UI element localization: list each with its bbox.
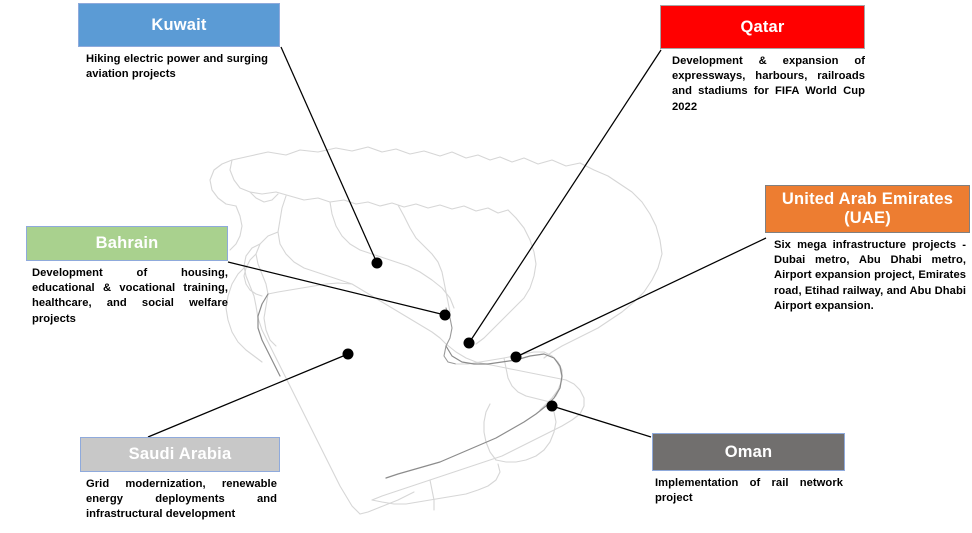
callout-qatar[interactable]: Qatar Development & expansion of express… <box>660 5 865 115</box>
callout-oman[interactable]: Oman Implementation of rail network proj… <box>652 433 845 506</box>
callout-header-uae: United Arab Emirates (UAE) <box>765 185 970 233</box>
callout-text-uae: Six mega infrastructure projects - Dubai… <box>774 233 966 314</box>
callout-header-saudi-arabia: Saudi Arabia <box>80 437 280 472</box>
map-coastline-emphasis <box>258 294 562 478</box>
leader-line-oman <box>552 406 651 437</box>
callout-saudi-arabia[interactable]: Saudi Arabia Grid modernization, renewab… <box>80 437 280 523</box>
callout-text-oman: Implementation of rail network project <box>655 471 843 506</box>
leader-line-uae <box>516 238 766 357</box>
callout-kuwait[interactable]: Kuwait Hiking electric power and surging… <box>78 3 280 82</box>
callout-text-kuwait: Hiking electric power and surging aviati… <box>86 47 268 82</box>
callout-text-saudi-arabia: Grid modernization, renewable energy dep… <box>86 472 277 523</box>
map-marker-bahrain[interactable] <box>440 310 451 321</box>
map-marker-saudi[interactable] <box>343 349 354 360</box>
callout-bahrain[interactable]: Bahrain Development of housing, educatio… <box>26 226 228 327</box>
map-marker-kuwait[interactable] <box>372 258 383 269</box>
callout-header-qatar: Qatar <box>660 5 865 49</box>
infographic-canvas: Kuwait Hiking electric power and surging… <box>0 0 972 533</box>
callout-text-qatar: Development & expansion of expressways, … <box>672 49 865 115</box>
map-marker-uae[interactable] <box>511 352 522 363</box>
callout-uae[interactable]: United Arab Emirates (UAE) Six mega infr… <box>765 185 970 314</box>
map-marker-oman[interactable] <box>547 401 558 412</box>
callout-header-oman: Oman <box>652 433 845 471</box>
leader-line-kuwait <box>281 47 377 263</box>
leader-line-saudi <box>148 354 348 437</box>
callout-header-bahrain: Bahrain <box>26 226 228 261</box>
callout-header-kuwait: Kuwait <box>78 3 280 47</box>
map-marker-qatar[interactable] <box>464 338 475 349</box>
leader-line-qatar <box>469 50 661 343</box>
callout-text-bahrain: Development of housing, educational & vo… <box>32 261 228 327</box>
